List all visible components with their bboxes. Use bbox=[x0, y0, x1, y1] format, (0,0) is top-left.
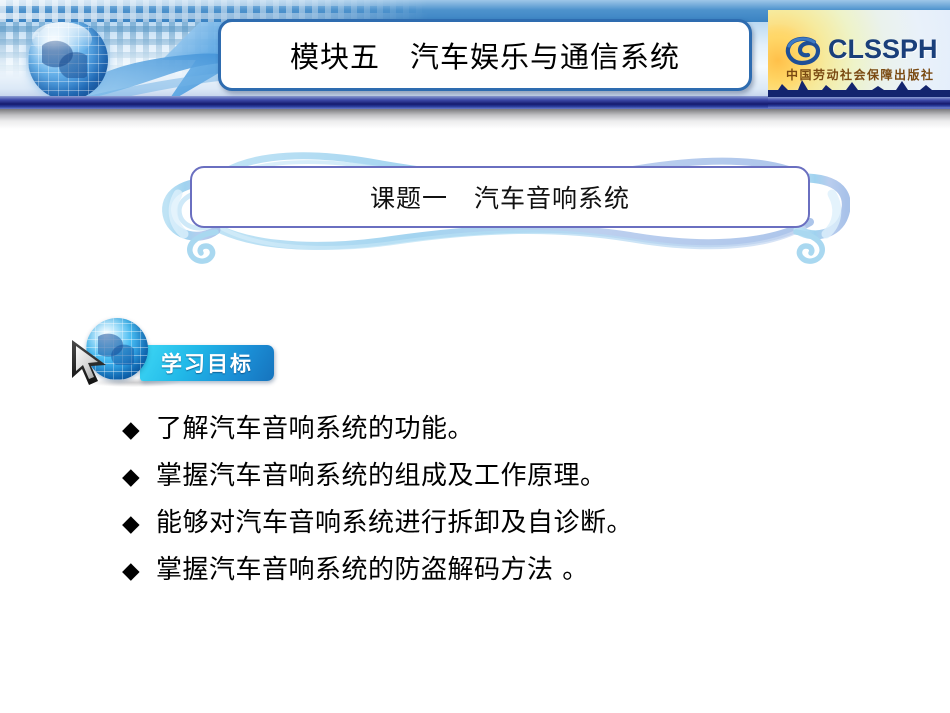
objective-text: 掌握汽车音响系统的组成及工作原理。 bbox=[156, 455, 607, 492]
logo-skyline-silhouette bbox=[768, 72, 950, 98]
list-item: ◆ 了解汽车音响系统的功能。 bbox=[122, 408, 882, 455]
badge-banner: 学习目标 bbox=[140, 345, 274, 381]
diamond-bullet-icon: ◆ bbox=[122, 560, 156, 583]
objective-text: 了解汽车音响系统的功能。 bbox=[156, 408, 474, 445]
slide-canvas: CLSSPH 中国劳动社会保障出版社 模块五 汽车娱乐与通信系统 bbox=[0, 0, 950, 713]
diamond-bullet-icon: ◆ bbox=[122, 513, 156, 536]
logo-baseline-bar bbox=[768, 97, 950, 108]
learning-objectives-badge: 学习目标 bbox=[64, 312, 264, 388]
header-banner: CLSSPH 中国劳动社会保障出版社 模块五 汽车娱乐与通信系统 bbox=[0, 0, 950, 128]
logo-name: CLSSPH bbox=[828, 34, 938, 65]
lesson-title-box: 课题一 汽车音响系统 bbox=[190, 166, 810, 228]
lesson-title-group: 课题一 汽车音响系统 bbox=[160, 142, 850, 268]
swirl-ring-logo-icon bbox=[784, 36, 824, 68]
publisher-logo: CLSSPH 中国劳动社会保障出版社 bbox=[768, 10, 950, 108]
header-drop-shadow bbox=[0, 109, 950, 129]
lesson-title: 课题一 汽车音响系统 bbox=[370, 179, 630, 215]
list-item: ◆ 掌握汽车音响系统的组成及工作原理。 bbox=[122, 455, 882, 502]
objective-text: 掌握汽车音响系统的防盗解码方法 。 bbox=[156, 549, 589, 586]
list-item: ◆ 能够对汽车音响系统进行拆卸及自诊断。 bbox=[122, 502, 882, 549]
diamond-bullet-icon: ◆ bbox=[122, 466, 156, 489]
globe-icon bbox=[28, 20, 108, 100]
list-item: ◆ 掌握汽车音响系统的防盗解码方法 。 bbox=[122, 549, 882, 596]
objective-text: 能够对汽车音响系统进行拆卸及自诊断。 bbox=[156, 502, 633, 539]
mouse-cursor-icon bbox=[64, 338, 120, 390]
objectives-list: ◆ 了解汽车音响系统的功能。 ◆ 掌握汽车音响系统的组成及工作原理。 ◆ 能够对… bbox=[122, 408, 882, 596]
diamond-bullet-icon: ◆ bbox=[122, 419, 156, 442]
module-title-box: 模块五 汽车娱乐与通信系统 bbox=[218, 19, 752, 91]
badge-label: 学习目标 bbox=[140, 345, 274, 381]
module-title: 模块五 汽车娱乐与通信系统 bbox=[290, 34, 680, 76]
